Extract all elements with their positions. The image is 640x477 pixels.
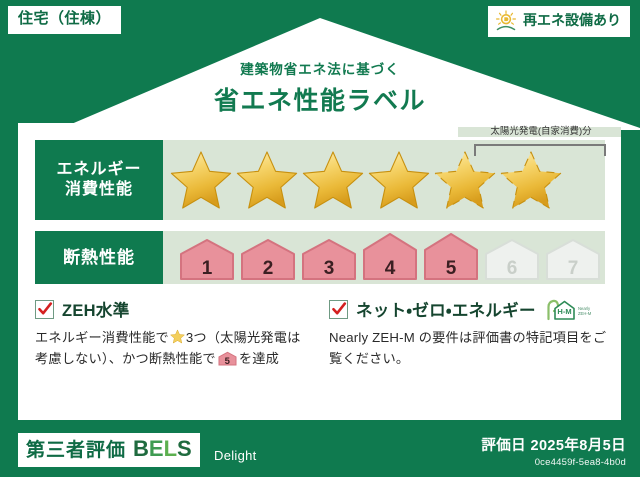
evaluation-date: 評価日 2025年8月5日 bbox=[481, 438, 626, 455]
grade-value: 2 bbox=[239, 259, 297, 278]
grade-badge: 2 bbox=[239, 238, 297, 280]
grade-badge: 3 bbox=[300, 238, 358, 280]
energy-performance-label: エネルギー 消費性能 bbox=[35, 140, 163, 220]
svg-text:H-M: H-M bbox=[557, 307, 571, 316]
star-icon-solar bbox=[433, 149, 497, 211]
grade-badge: 1 bbox=[178, 238, 236, 280]
grade-value: 5 bbox=[422, 259, 480, 278]
insulation-grades-panel: 1 2 3 4 5 bbox=[163, 231, 605, 284]
insulation-grade-scale: 1 2 3 4 5 bbox=[163, 231, 602, 284]
info-blocks: ZEH水準 エネルギー消費性能で3つ（太陽光発電は考慮しない）、かつ断熱性能で5… bbox=[35, 298, 607, 406]
bels-footer-badge: 第三者評価 BELS bbox=[18, 433, 200, 467]
insulation-performance-label: 断熱性能 bbox=[35, 231, 163, 284]
grade-badge: 7 bbox=[544, 238, 602, 280]
inline-star-icon bbox=[170, 329, 185, 344]
zeh-checkbox bbox=[35, 300, 54, 319]
nze-description: Nearly ZEH-M の要件は評価書の特記項目をご覧ください。 bbox=[329, 327, 607, 370]
insulation-label-text: 断熱性能 bbox=[63, 247, 135, 269]
grade-badge: 6 bbox=[483, 238, 541, 280]
building-type-badge: 住宅（住棟） bbox=[8, 6, 121, 34]
grade-value: 6 bbox=[483, 259, 541, 278]
net-zero-energy-block: ネット・ゼロ・エネルギー H-M Nearly ZEH-M Nearly ZEH… bbox=[329, 298, 607, 406]
check-icon bbox=[37, 301, 53, 317]
title-subtitle: 建築物省エネ法に基づく bbox=[0, 58, 640, 78]
third-party-label: 第三者評価 bbox=[26, 441, 126, 462]
zeh-text-part1: エネルギー消費性能で bbox=[35, 330, 169, 345]
evaluation-date-label: 評価日 bbox=[481, 438, 526, 454]
grade-value: 4 bbox=[361, 259, 419, 278]
renewable-badge-label: 再エネ設備あり bbox=[523, 13, 621, 28]
document-id: 0ce4459f-5ea8-4b0d bbox=[481, 457, 626, 468]
solar-caption: 太陽光発電(自家消費)分 bbox=[458, 127, 621, 137]
star-icon bbox=[301, 149, 365, 211]
zeh-heading: ZEH水準 bbox=[35, 298, 313, 320]
energy-performance-row: エネルギー 消費性能 bbox=[35, 140, 605, 220]
star-icon bbox=[235, 149, 299, 211]
nze-heading: ネット・ゼロ・エネルギー H-M Nearly ZEH-M bbox=[329, 298, 607, 320]
label-title: 建築物省エネ法に基づく 省エネ性能ラベル bbox=[0, 58, 640, 117]
evaluation-date-value: 2025年8月5日 bbox=[531, 438, 627, 454]
energy-performance-label: 住宅（住棟） 再エネ設備あり 建築物省エネ法に基づく 省エネ性能ラベル いい部屋… bbox=[0, 0, 640, 477]
star-rating bbox=[163, 149, 605, 211]
energy-label-line1: エネルギー bbox=[56, 160, 141, 180]
zeh-standard-block: ZEH水準 エネルギー消費性能で3つ（太陽光発電は考慮しない）、かつ断熱性能で5… bbox=[35, 298, 313, 406]
inline-grade-value: 5 bbox=[218, 357, 237, 367]
star-icon bbox=[367, 149, 431, 211]
zeh-text-part3: を達成 bbox=[239, 351, 279, 366]
inline-grade-badge: 5 bbox=[218, 351, 237, 366]
renewable-energy-badge: 再エネ設備あり bbox=[488, 6, 630, 37]
solar-bracket bbox=[474, 144, 606, 156]
evaluation-footer: 評価日 2025年8月5日 0ce4459f-5ea8-4b0d bbox=[481, 438, 626, 468]
energy-stars-panel: 太陽光発電(自家消費)分 bbox=[163, 140, 605, 220]
grade-badge: 4 bbox=[361, 232, 419, 280]
zeh-title: ZEH水準 bbox=[62, 297, 130, 321]
grade-badge: 5 bbox=[422, 232, 480, 280]
title-main: 省エネ性能ラベル bbox=[0, 81, 640, 117]
energy-label-line2: 消費性能 bbox=[65, 180, 133, 200]
label-card: いい部屋ネット エネルギー 消費性能 bbox=[18, 123, 621, 420]
star-icon bbox=[169, 149, 233, 211]
nearly-zeh-m-logo: H-M Nearly ZEH-M bbox=[546, 297, 592, 321]
brand-name: Delight bbox=[214, 448, 257, 463]
zeh-description: エネルギー消費性能で3つ（太陽光発電は考慮しない）、かつ断熱性能で5を達成 bbox=[35, 327, 313, 370]
grade-value: 1 bbox=[178, 259, 236, 278]
insulation-performance-row: 断熱性能 1 2 3 bbox=[35, 231, 605, 284]
grade-value: 7 bbox=[544, 259, 602, 278]
nze-title: ネット・ゼロ・エネルギー bbox=[356, 297, 536, 321]
bels-logo: BELS bbox=[133, 437, 192, 461]
check-icon bbox=[331, 301, 347, 317]
sun-icon bbox=[494, 10, 518, 32]
nze-checkbox bbox=[329, 300, 348, 319]
svg-text:ZEH-M: ZEH-M bbox=[578, 311, 592, 316]
star-icon-solar bbox=[499, 149, 563, 211]
grade-value: 3 bbox=[300, 259, 358, 278]
